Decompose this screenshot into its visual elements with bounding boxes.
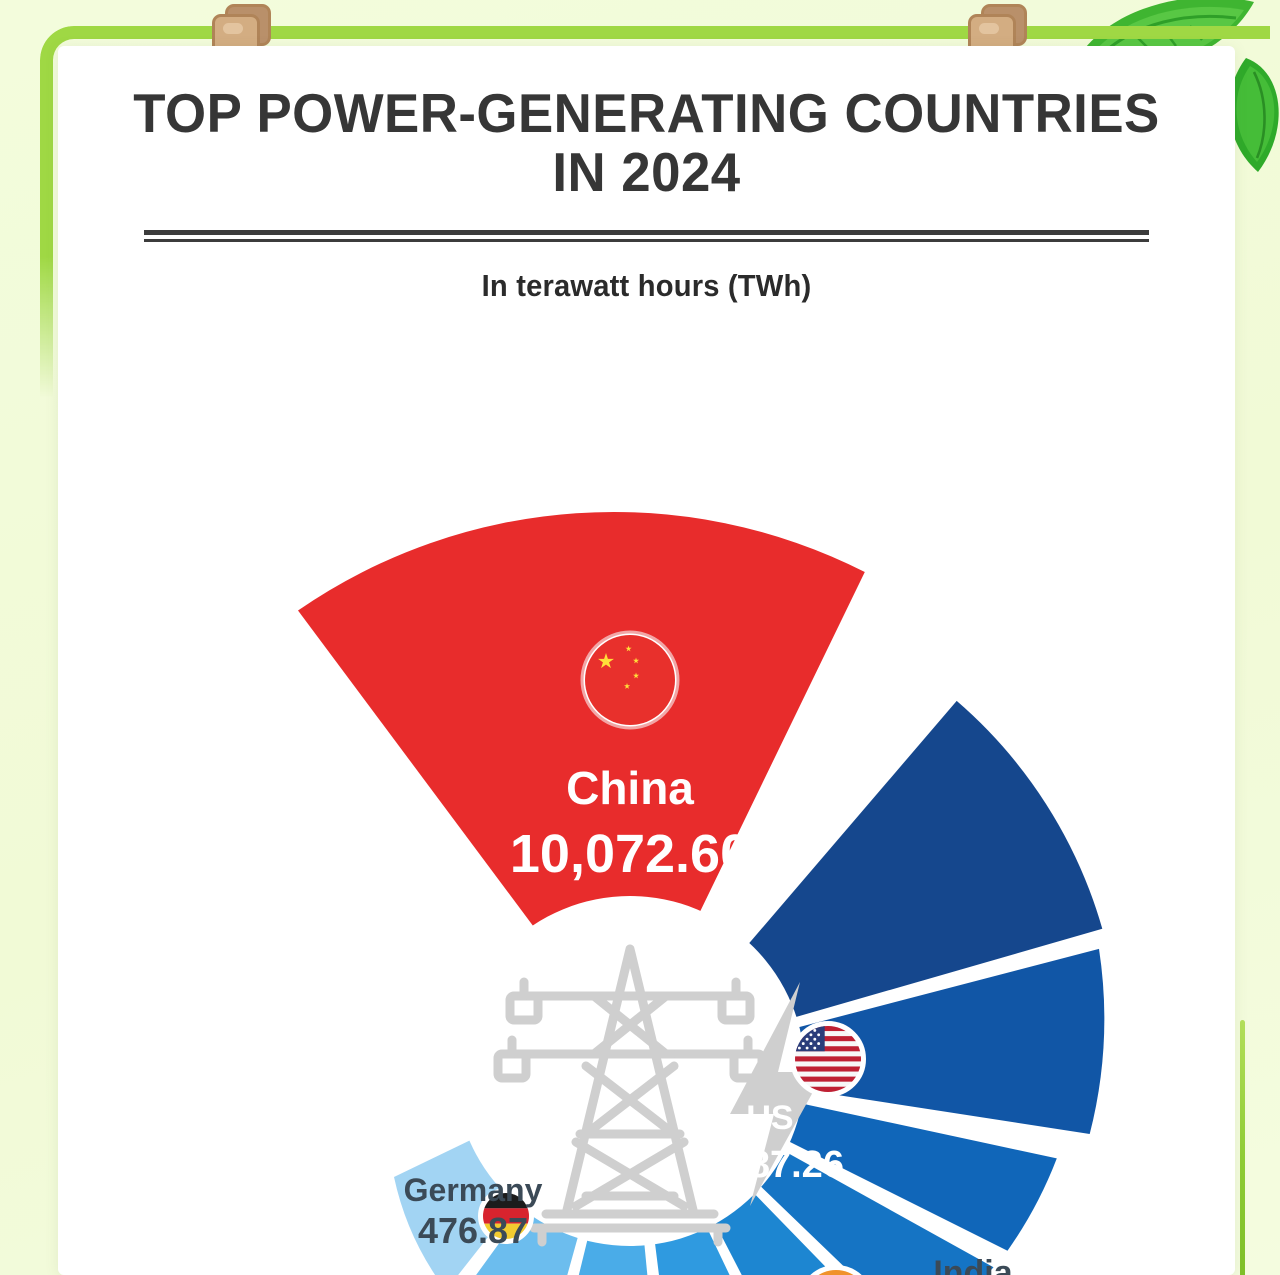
- label-germany-value: 476.87: [418, 1210, 528, 1251]
- label-us-country: US: [746, 1099, 793, 1137]
- label-us-value: 4,387.26: [696, 1144, 844, 1186]
- poster-card: TOP POWER-GENERATING COUNTRIES IN 2024 I…: [58, 46, 1235, 1275]
- pie-chart: China 10,072.60 US 4,387.26 India 2,057.…: [58, 284, 1235, 1275]
- page-title: TOP POWER-GENERATING COUNTRIES IN 2024: [82, 46, 1212, 202]
- page-title-line1: TOP POWER-GENERATING COUNTRIES: [133, 82, 1159, 144]
- infographic-root: TOP POWER-GENERATING COUNTRIES IN 2024 I…: [0, 0, 1280, 1275]
- label-china-country: China: [566, 762, 694, 814]
- label-china-value: 10,072.60: [510, 824, 750, 884]
- title-divider: [144, 230, 1149, 242]
- flag-china: [582, 632, 678, 728]
- label-germany-country: Germany: [404, 1172, 543, 1208]
- page-title-line2: IN 2024: [552, 141, 740, 203]
- label-india-country: India: [933, 1254, 1013, 1275]
- plant-stem-icon: [1240, 1020, 1245, 1275]
- pie-chart-svg: China 10,072.60 US 4,387.26 India 2,057.…: [58, 284, 1235, 1275]
- flag-us: [792, 1023, 864, 1095]
